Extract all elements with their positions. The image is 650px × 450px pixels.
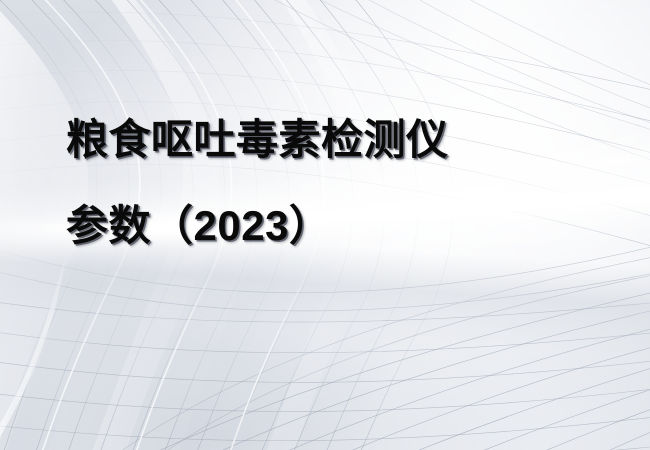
title-line-primary: 粮食呕吐毒素检测仪 — [66, 118, 586, 162]
title-line-secondary: 参数（2023） — [66, 204, 586, 248]
title-banner: 粮食呕吐毒素检测仪 参数（2023） — [0, 0, 650, 450]
banner-title: 粮食呕吐毒素检测仪 参数（2023） — [66, 118, 586, 248]
